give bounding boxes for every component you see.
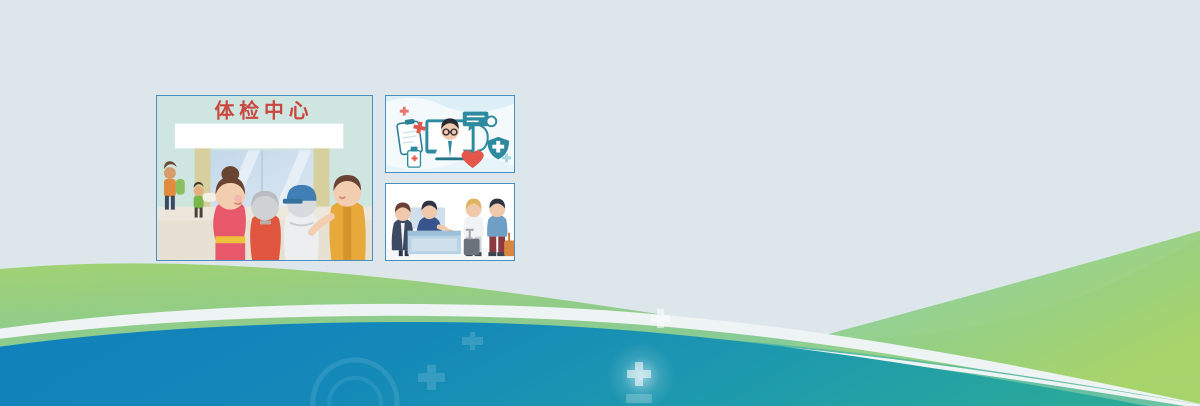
health-exam-center-illustration: 体检中心 [157, 96, 372, 260]
foreground-person-cap [283, 185, 319, 260]
banner-stage: 体检中心 [0, 0, 1200, 406]
foreground-person-elder-gray [250, 191, 281, 260]
thumbnail-reception-desk[interactable] [385, 183, 515, 261]
reception-desk-illustration [386, 184, 514, 260]
thumbnail-column [385, 95, 515, 261]
sign-text: 体检中心 [215, 100, 314, 123]
image-thumbnail-gallery[interactable]: 体检中心 [156, 95, 515, 261]
thumbnail-online-doctor[interactable] [385, 95, 515, 173]
reception-counter [408, 231, 461, 254]
small-rect-decoration [626, 394, 652, 403]
thumbnail-health-exam-center[interactable]: 体检中心 [156, 95, 373, 261]
online-doctor-illustration [386, 96, 514, 172]
visitor-person-woman [463, 199, 483, 256]
